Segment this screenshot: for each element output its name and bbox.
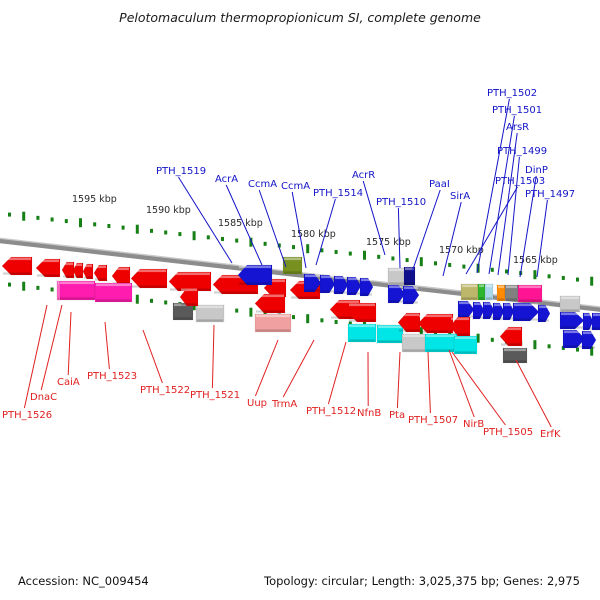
gene-label-text: PTH_1499	[497, 146, 547, 157]
gene-label-text: PTH_1507	[408, 415, 458, 426]
gene-feature[interactable]	[348, 324, 376, 342]
genome-stats-text: Topology: circular; Length: 3,025,375 bp…	[263, 574, 580, 588]
gene-feature[interactable]	[95, 283, 132, 302]
gene-label-text: Pta	[389, 410, 405, 421]
gene-label-text: PTH_1522	[140, 385, 190, 396]
gene-feature[interactable]	[503, 348, 527, 363]
gene-label-text: PTH_1526	[2, 410, 52, 421]
gene-feature[interactable]	[560, 296, 580, 312]
accession-text: Accession: NC_009454	[18, 574, 149, 588]
axis-tick-label: 1575 kbp	[366, 237, 411, 248]
gene-label-text: PaaI	[429, 179, 450, 190]
gene-label-text: NfnB	[357, 408, 381, 419]
gene-feature[interactable]	[493, 303, 504, 320]
gene-feature[interactable]	[377, 325, 403, 343]
axis-tick-label: 1565 kbp	[513, 255, 558, 266]
gene-feature[interactable]	[497, 285, 505, 301]
gene-label-text: AcrR	[352, 170, 375, 181]
gene-feature[interactable]	[458, 301, 474, 318]
gene-feature[interactable]	[404, 267, 415, 285]
gene-feature[interactable]	[94, 265, 107, 281]
gene-label-text: ArsR	[506, 122, 529, 133]
gene-label-text: NirB	[463, 419, 484, 430]
gene-feature[interactable]	[473, 302, 484, 319]
gene-feature[interactable]	[518, 285, 542, 302]
axis-tick-label: 1580 kbp	[291, 229, 336, 240]
gene-label-text: AcrA	[215, 174, 238, 185]
gene-feature[interactable]	[478, 284, 485, 300]
gene-label-text: PTH_1521	[190, 390, 240, 401]
gene-label-text: CaiA	[57, 377, 80, 388]
gene-feature[interactable]	[402, 334, 428, 352]
gene-feature[interactable]	[538, 305, 550, 322]
gene-feature[interactable]	[255, 314, 291, 332]
genome-map-canvas[interactable]: Pelotomaculum thermopropionicum SI, comp…	[0, 0, 600, 600]
gene-feature[interactable]	[483, 302, 494, 319]
gene-label-text: DnaC	[30, 392, 57, 403]
gene-feature[interactable]	[73, 263, 83, 278]
axis-tick-label: 1585 kbp	[218, 218, 263, 229]
gene-feature[interactable]	[503, 303, 514, 320]
gene-label-text: PTH_1514	[313, 188, 363, 199]
gene-feature[interactable]	[425, 334, 457, 352]
gene-label-text: Uup	[247, 398, 267, 409]
page-title: Pelotomaculum thermopropionicum SI, comp…	[119, 10, 481, 25]
axis-tick-label: 1590 kbp	[146, 205, 191, 216]
genome-browser-view: Pelotomaculum thermopropionicum SI, comp…	[0, 0, 600, 600]
gene-feature[interactable]	[592, 313, 600, 330]
gene-label-text: PTH_1501	[492, 105, 542, 116]
gene-label-text: ErfK	[540, 429, 561, 440]
gene-feature[interactable]	[505, 285, 518, 301]
gene-label-text: PTH_1523	[87, 371, 137, 382]
gene-feature[interactable]	[62, 262, 74, 278]
gene-feature[interactable]	[461, 284, 478, 300]
gene-label-text: PTH_1503	[495, 176, 545, 187]
gene-label-text: PTH_1502	[487, 88, 537, 99]
gene-label-text: TrmA	[271, 399, 297, 410]
gene-label-text: PTH_1519	[156, 166, 206, 177]
gene-label-text: CcmA	[248, 179, 277, 190]
gene-feature[interactable]	[560, 312, 584, 329]
gene-feature[interactable]	[454, 336, 477, 354]
gene-label-text: PTH_1510	[376, 197, 426, 208]
gene-feature[interactable]	[57, 281, 95, 300]
gene-feature[interactable]	[83, 264, 93, 279]
gene-label-text: PTH_1512	[306, 406, 356, 417]
gene-label-text: PTH_1505	[483, 427, 533, 438]
gene-feature[interactable]	[583, 313, 593, 330]
gene-label-text: SirA	[450, 191, 470, 202]
gene-label-text: DinP	[525, 165, 548, 176]
gene-label-text: CcmA	[281, 181, 310, 192]
gene-feature[interactable]	[57, 281, 60, 300]
gene-feature[interactable]	[196, 305, 224, 322]
axis-tick-label: 1595 kbp	[72, 194, 117, 205]
gene-feature[interactable]	[485, 284, 493, 300]
gene-label-text: PTH_1497	[525, 189, 575, 200]
